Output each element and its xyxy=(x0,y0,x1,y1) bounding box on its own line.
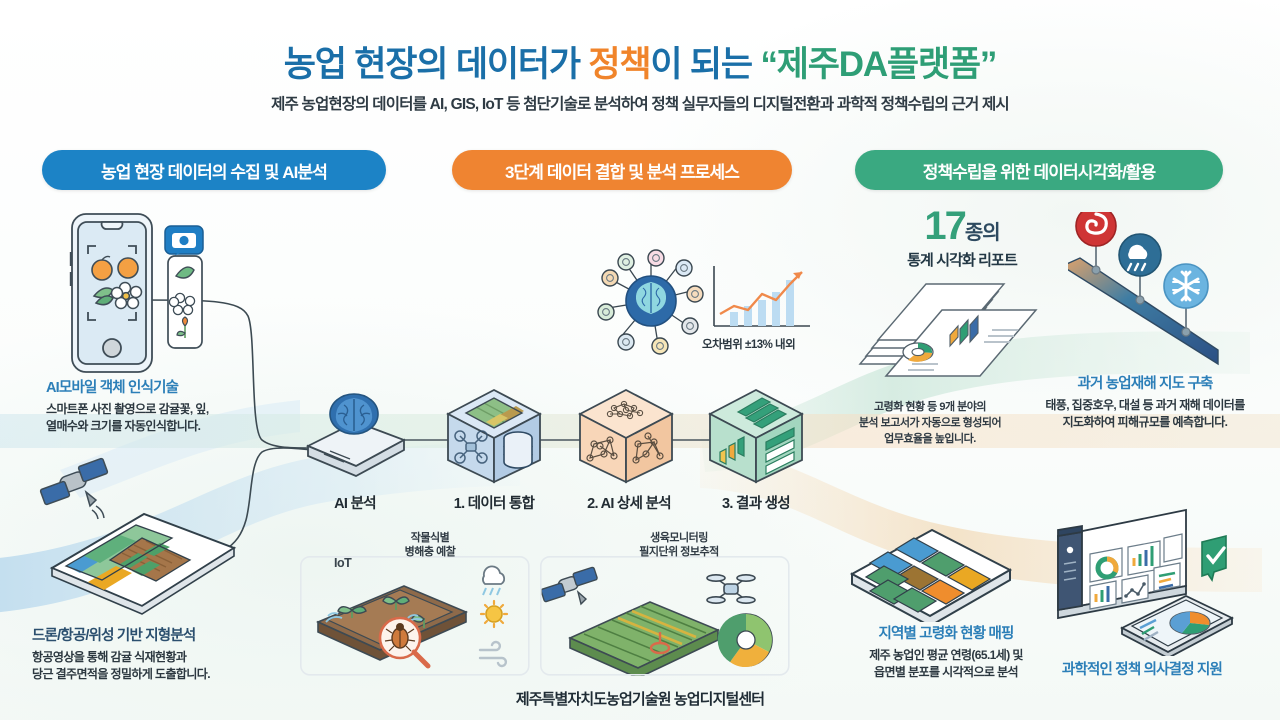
title-part-4: “제주DA플랫폼” xyxy=(760,45,996,84)
growth-monitoring-panel xyxy=(540,556,790,676)
cube-data-integration xyxy=(438,386,550,486)
smartphone-ai-illustration xyxy=(62,208,262,383)
title-part-3: 이 되는 xyxy=(650,45,760,84)
iot-label: IoT xyxy=(334,556,351,570)
rain-icon xyxy=(1119,234,1161,276)
report-count-block: 17종의 통계 시각화 리포트 xyxy=(862,206,1062,270)
report-count-caption: 통계 시각화 리포트 xyxy=(862,249,1062,270)
block-disaster-map: 과거 농업재해 지도 구축 태풍, 집중호우, 대설 등 과거 재해 데이터를 … xyxy=(1020,372,1270,431)
snow-icon xyxy=(1164,264,1208,308)
section-header-collect: 농업 현장 데이터의 수집 및 AI분석 xyxy=(42,150,386,190)
title-part-1: 농업 현장의 데이터가 xyxy=(284,45,589,84)
error-range-caption: 오차범위 ±13% 내외 xyxy=(702,336,795,352)
page-title: 농업 현장의 데이터가 정책이 되는 “제주DA플랫폼” xyxy=(0,36,1280,87)
block-decision-support: 과학적인 정책 의사결정 지원 xyxy=(1016,658,1268,679)
mobile-ai-heading: AI모바일 객체 인식기술 xyxy=(46,376,209,397)
section-header-process: 3단계 데이터 결합 및 분석 프로세스 xyxy=(452,150,792,190)
cube-result-generation xyxy=(700,386,812,486)
region-aging-grid-map xyxy=(840,512,1020,622)
drone-terrain-body: 항공영상을 통해 감귤 식재현황과 당근 결주면적을 정밀하게 도출합니다. xyxy=(32,649,210,683)
aging-mapping-heading: 지역별 고령화 현황 매핑 xyxy=(822,622,1070,643)
cube-ai-detail-analysis xyxy=(570,386,682,486)
step-label-data-integration: 1. 데이터 통합 xyxy=(424,492,564,513)
ai-brain-server-illustration xyxy=(300,392,410,478)
step-label-result-generation: 3. 결과 생성 xyxy=(686,492,826,513)
drone-terrain-heading: 드론/항공/위성 기반 지형분석 xyxy=(32,624,210,645)
disaster-timeline-illustration xyxy=(1068,212,1268,372)
title-part-2: 정책 xyxy=(588,45,650,84)
step-label-ai-analysis: AI 분석 xyxy=(285,492,425,513)
decision-support-heading: 과학적인 정책 의사결정 지원 xyxy=(1016,658,1268,679)
iot-pest-panel xyxy=(300,556,530,676)
growth-monitoring-caption: 생육모니터링 필지단위 정보추적 xyxy=(584,531,774,560)
policy-dashboard-illustration xyxy=(1036,506,1276,656)
report-count-unit: 종의 xyxy=(965,222,1000,244)
neural-hub-illustration xyxy=(596,246,706,356)
iot-caption: 작물식별 병해충 예찰 xyxy=(350,531,510,560)
typhoon-icon xyxy=(1076,212,1116,246)
disaster-map-heading: 과거 농업재해 지도 구축 xyxy=(1020,372,1270,393)
step-label-ai-detail: 2. AI 상세 분석 xyxy=(554,492,704,513)
report-count-number: 17 xyxy=(924,204,965,248)
block-drone-terrain: 드론/항공/위성 기반 지형분석 항공영상을 통해 감귤 식재현황과 당근 결주… xyxy=(32,624,210,683)
page-subtitle: 제주 농업현장의 데이터를 AI, GIS, IoT 등 첨단기술로 분석하여 … xyxy=(0,92,1280,114)
satellite-terrain-illustration xyxy=(24,452,254,622)
error-range-trend-chart xyxy=(706,262,816,340)
disaster-map-body: 태풍, 집중호우, 대설 등 과거 재해 데이터를 지도화하여 피해규모를 예측… xyxy=(1020,397,1270,431)
mobile-ai-body: 스마트폰 사진 촬영으로 감귤꽃, 잎, 열매수와 크기를 자동인식합니다. xyxy=(46,401,209,435)
infographic-canvas: 농업 현장의 데이터가 정책이 되는 “제주DA플랫폼” 제주 농업현장의 데이… xyxy=(0,0,1280,720)
report-body-caption: 고령화 현황 등 9개 분야의 분석 보고서가 자동으로 형성되어 업무효율을 … xyxy=(818,400,1042,448)
block-mobile-ai: AI모바일 객체 인식기술 스마트폰 사진 촬영으로 감귤꽃, 잎, 열매수와 … xyxy=(46,376,209,435)
section-header-visualize: 정책수립을 위한 데이터시각화/활용 xyxy=(855,150,1223,190)
footer-organization: 제주특별자치도농업기술원 농업디지털센터 xyxy=(0,688,1280,709)
